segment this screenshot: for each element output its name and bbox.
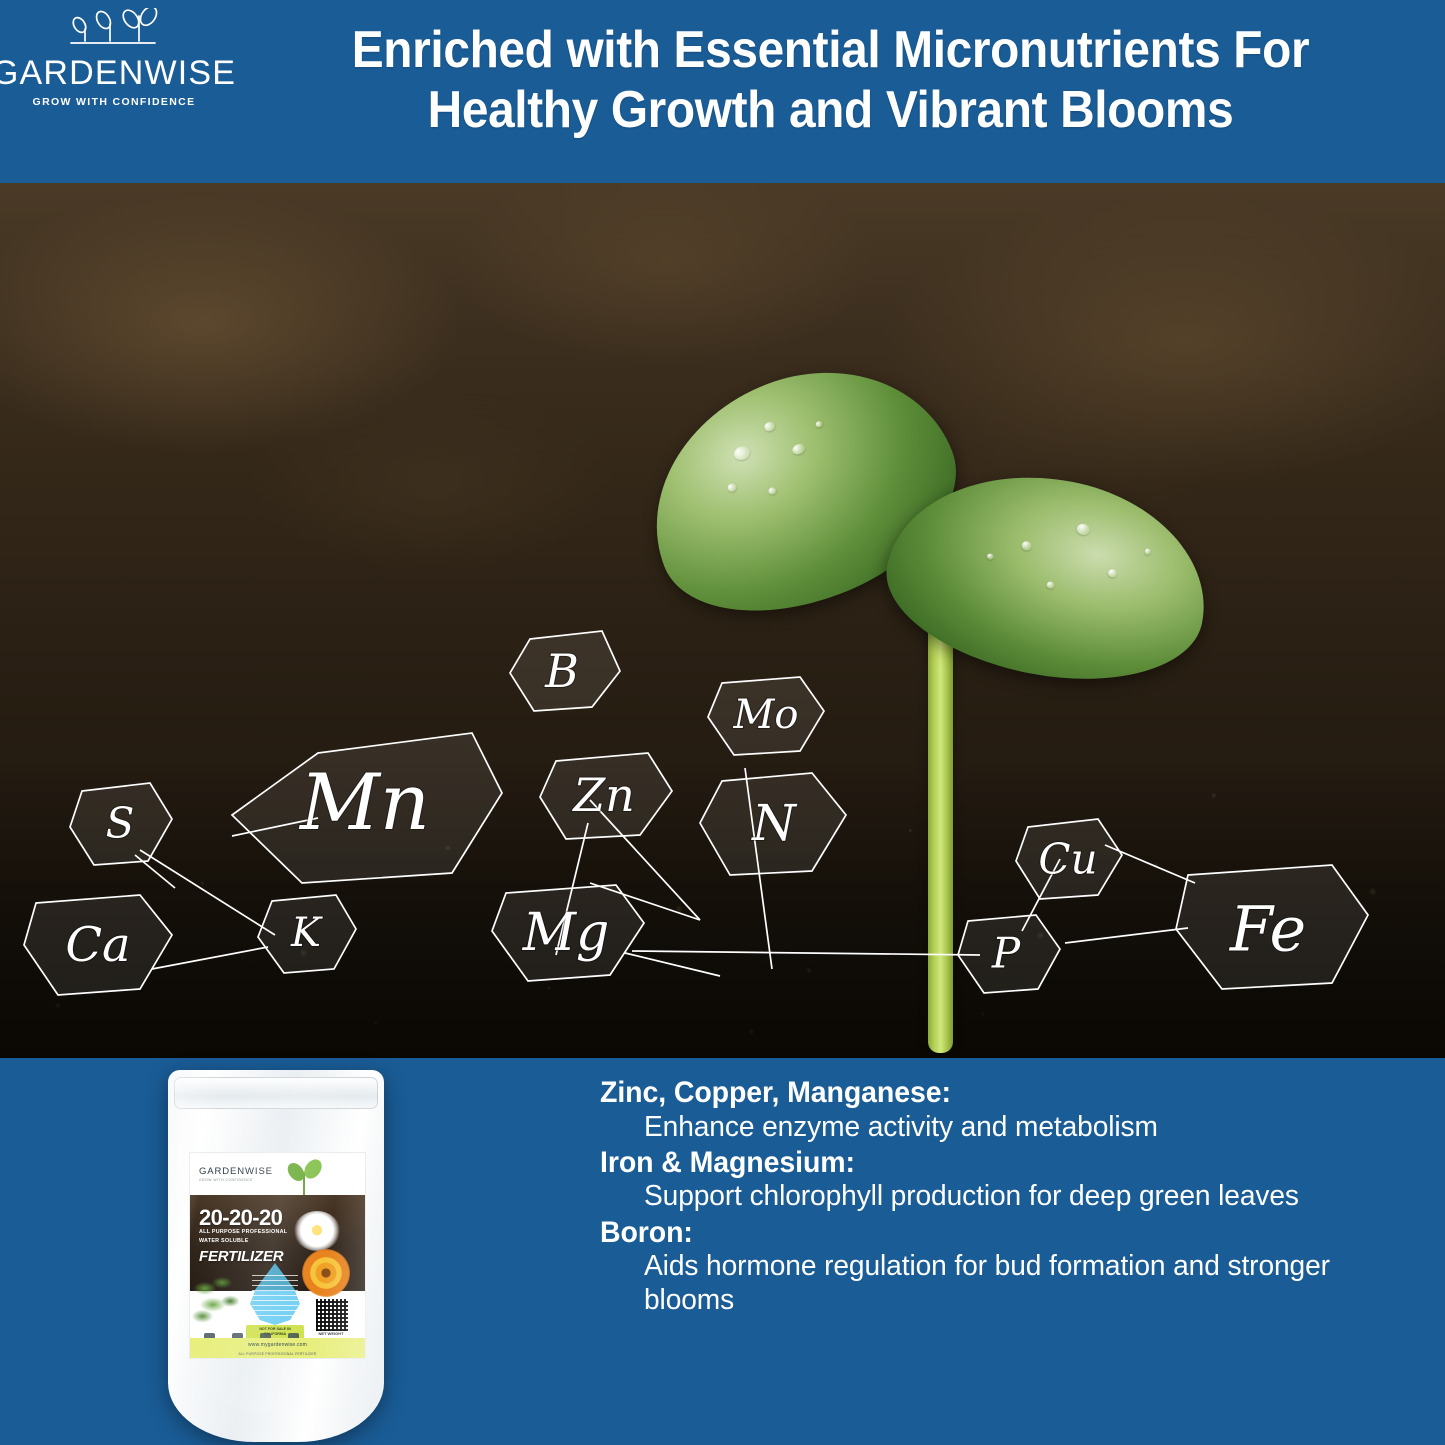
benefit-item: Boron: Aids hormone regulation for bud f… [600,1216,1410,1318]
hex-label-mo: Mo [732,692,798,738]
hex-label-n: N [751,794,798,852]
hex-label-fe: Fe [1229,893,1306,966]
package-label: GARDENWISE GROW WITH CONFIDENCE 20-20-20… [189,1152,366,1359]
hex-label-b: B [544,644,579,698]
bottom-panel: GARDENWISE GROW WITH CONFIDENCE 20-20-20… [0,1058,1445,1445]
label-website: www.mygardenwise.com [190,1342,365,1348]
benefit-item: Iron & Magnesium: Support chlorophyll pr… [600,1146,1410,1214]
benefit-body: Support chlorophyll production for deep … [644,1179,1387,1213]
benefits-list: Zinc, Copper, Manganese: Enhance enzyme … [600,1076,1410,1320]
qr-code-icon [314,1297,350,1333]
hex-label-k: K [290,910,323,956]
label-descriptor-1: ALL PURPOSE PROFESSIONAL [199,1229,287,1235]
product-infographic: GARDENWISE GROW WITH CONFIDENCE Enriched… [0,0,1445,1445]
nutrient-hex-diagram: Mn B Zn Mo N S Ca [0,183,1445,1058]
hex-label-zn: Zn [571,768,635,822]
label-drop-text-lines [252,1275,298,1319]
hex-label-mg: Mg [522,903,610,963]
hex-label-cu: Cu [1038,835,1097,884]
brand-name: GARDENWISE [0,56,236,90]
page-headline: Enriched with Essential Micronutrients F… [276,20,1385,141]
label-brand: GARDENWISE [199,1166,273,1177]
brand-logo: GARDENWISE GROW WITH CONFIDENCE [8,8,220,118]
label-product-type: FERTILIZER [199,1248,283,1265]
label-orange-flower [302,1249,350,1297]
label-green-foliage [192,1271,250,1329]
product-package-image: GARDENWISE GROW WITH CONFIDENCE 20-20-20… [168,1070,384,1442]
headline-line-1: Enriched with Essential Micronutrients F… [276,20,1385,80]
label-footer-text: ALL PURPOSE PROFESSIONAL FERTILIZER [190,1352,365,1356]
net-weight-label: NET WEIGHT [318,1331,343,1336]
package-zipper-seal [174,1077,378,1109]
hex-label-mn: Mn [298,758,430,848]
sprout-icon [55,8,173,54]
hex-nodes: Mn B Zn Mo N S Ca [24,631,1368,995]
benefit-body: Enhance enzyme activity and metabolism [644,1110,1387,1144]
benefit-heading: Zinc, Copper, Manganese: [600,1076,1370,1110]
benefit-item: Zinc, Copper, Manganese: Enhance enzyme … [600,1076,1410,1144]
hex-label-ca: Ca [65,917,130,973]
benefit-heading: Iron & Magnesium: [600,1146,1370,1180]
hex-label-s: S [106,799,135,848]
label-white-flower [294,1211,340,1251]
header-banner: GARDENWISE GROW WITH CONFIDENCE Enriched… [0,0,1445,183]
label-npk-ratio: 20-20-20 [199,1205,282,1231]
headline-line-2: Healthy Growth and Vibrant Blooms [276,80,1385,140]
package-pouch: GARDENWISE GROW WITH CONFIDENCE 20-20-20… [168,1070,384,1442]
benefit-body: Aids hormone regulation for bud formatio… [644,1249,1387,1317]
label-descriptor-2: WATER SOLUBLE [199,1238,249,1244]
hex-label-p: P [991,929,1021,978]
hero-photo: Mn B Zn Mo N S Ca [0,183,1445,1058]
label-brand-tagline: GROW WITH CONFIDENCE [199,1178,253,1182]
label-sprout-icon [282,1158,326,1198]
brand-tagline: GROW WITH CONFIDENCE [33,96,196,108]
benefit-heading: Boron: [600,1216,1370,1250]
